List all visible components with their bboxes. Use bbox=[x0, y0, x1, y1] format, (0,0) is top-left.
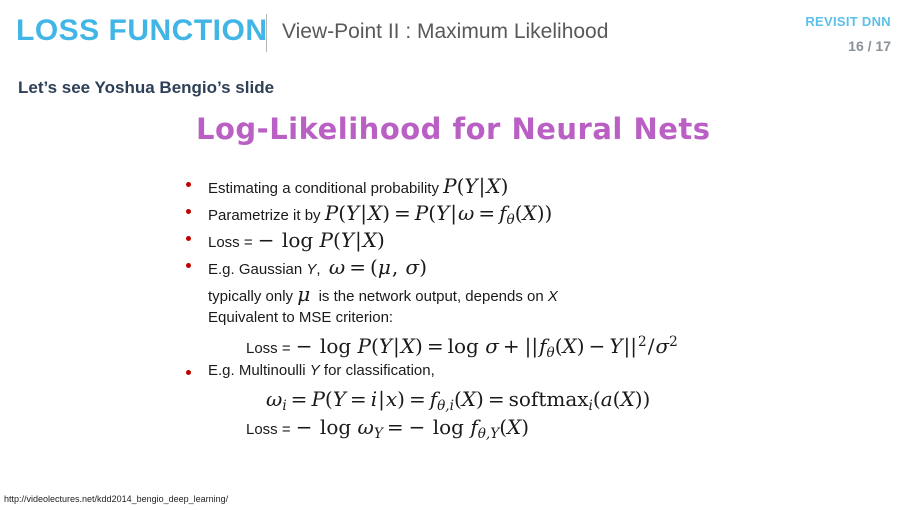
equation-gaussian-omega: ω=(μ, σ) bbox=[329, 255, 427, 279]
list-item-label: Estimating a conditional probability bbox=[208, 180, 439, 197]
gaussian-note-typically: typically only μ is the network output, … bbox=[186, 282, 886, 306]
typically-post-label: is the network output, depends on bbox=[319, 288, 544, 305]
gaussian-loss-equation-row: Loss = − log P(Y|X)=log σ+||fθ(X)−Y||2/σ… bbox=[186, 334, 886, 360]
equivalent-label: Equivalent to MSE criterion: bbox=[208, 309, 393, 326]
equation-estimating: P(Y|X) bbox=[443, 174, 508, 198]
bullet-dot-icon bbox=[186, 182, 191, 187]
gaussian-y-label: Y bbox=[306, 261, 316, 278]
bullet-list: Estimating a conditional probability P(Y… bbox=[186, 174, 886, 443]
typically-x-label: X bbox=[548, 288, 558, 305]
list-item: Estimating a conditional probability P(Y… bbox=[186, 174, 886, 198]
list-item: Parametrize it by P(Y|X)=P(Y|ω=fθ(X)) bbox=[186, 201, 886, 225]
header-divider bbox=[266, 14, 267, 52]
list-item: E.g. Multinoulli Y for classification, bbox=[186, 362, 886, 384]
subheading: Let’s see Yoshua Bengio’s slide bbox=[18, 78, 274, 98]
symbol-mu: μ bbox=[297, 282, 310, 306]
list-item-body: E.g. Multinoulli Y for classification, bbox=[186, 362, 435, 380]
header-subtitle: View-Point II : Maximum Likelihood bbox=[282, 20, 608, 44]
list-item-body: Loss = − log P(Y|X) bbox=[186, 228, 385, 252]
equation-loss: − log P(Y|X) bbox=[257, 228, 385, 252]
gaussian-note-equivalent: Equivalent to MSE criterion: bbox=[186, 309, 886, 331]
bullet-dot-icon bbox=[186, 236, 191, 241]
list-item-body: Parametrize it by P(Y|X)=P(Y|ω=fθ(X)) bbox=[186, 201, 552, 225]
multinoulli-y-label: Y bbox=[310, 362, 320, 379]
loss-label: Loss = bbox=[246, 340, 291, 357]
multinoulli-pre-label: E.g. Multinoulli bbox=[208, 362, 306, 379]
gaussian-pre-label: E.g. Gaussian bbox=[208, 261, 302, 278]
list-item-body: Estimating a conditional probability P(Y… bbox=[186, 174, 508, 198]
loss-label: Loss = bbox=[246, 421, 291, 438]
multinoulli-omega-equation-row: ωi=P(Y=i|x)=fθ,i(X)=softmaxi(a(X)) bbox=[186, 387, 886, 415]
bullet-dot-icon bbox=[186, 263, 191, 268]
equation-parametrize: P(Y|X)=P(Y|ω=fθ(X)) bbox=[325, 201, 553, 225]
bullet-dot-icon bbox=[186, 209, 191, 214]
typically-pre-label: typically only bbox=[208, 288, 293, 305]
bullet-dot-icon bbox=[186, 370, 191, 375]
header-section-label: REVISIT DNN bbox=[805, 14, 891, 29]
slide-header: LOSS FUNCTION View-Point II : Maximum Li… bbox=[0, 0, 907, 66]
list-item-body: E.g. Gaussian Y, ω=(μ, σ) bbox=[186, 255, 427, 279]
page-number: 16 / 17 bbox=[848, 38, 891, 54]
page-title: LOSS FUNCTION bbox=[16, 14, 268, 48]
multinoulli-loss-equation-row: Loss = − log ωY=− log fθ,Y(X) bbox=[186, 415, 886, 441]
list-item-label: Loss = bbox=[208, 234, 253, 251]
equation-multinoulli-omega: ωi=P(Y=i|x)=fθ,i(X)=softmaxi(a(X)) bbox=[266, 387, 650, 411]
source-url[interactable]: http://videolectures.net/kdd2014_bengio_… bbox=[4, 494, 228, 504]
multinoulli-post-label: for classification, bbox=[324, 362, 435, 379]
equation-multinoulli-loss: − log ωY=− log fθ,Y(X) bbox=[295, 415, 529, 439]
slide-title: Log-Likelihood for Neural Nets bbox=[196, 112, 711, 146]
list-item: E.g. Gaussian Y, ω=(μ, σ) bbox=[186, 255, 886, 279]
embedded-bengio-slide: Log-Likelihood for Neural Nets Estimatin… bbox=[0, 106, 907, 476]
list-item-label: Parametrize it by bbox=[208, 207, 321, 224]
list-item: Loss = − log P(Y|X) bbox=[186, 228, 886, 252]
equation-gaussian-loss: − log P(Y|X)=log σ+||fθ(X)−Y||2/σ2 bbox=[295, 334, 678, 358]
